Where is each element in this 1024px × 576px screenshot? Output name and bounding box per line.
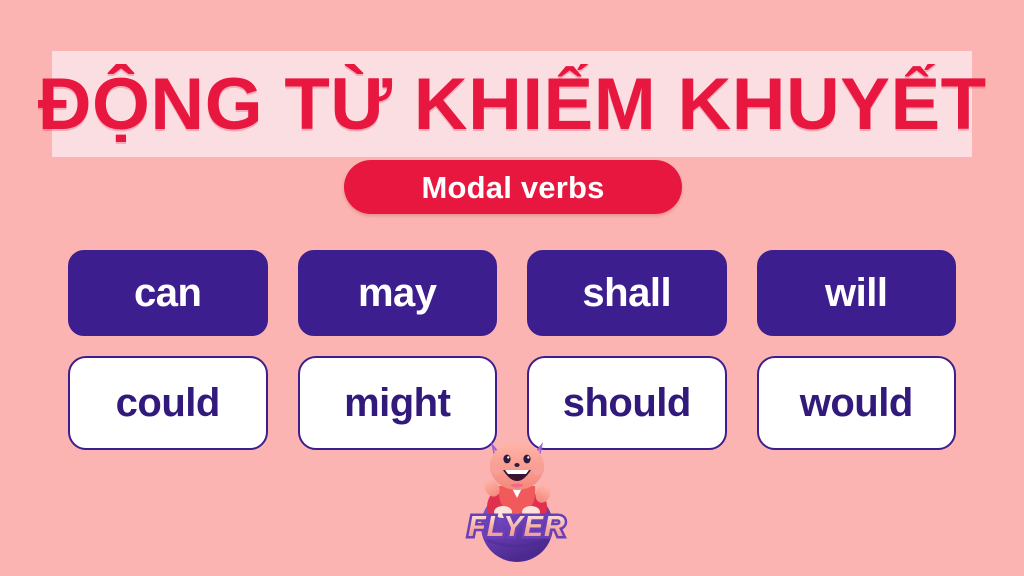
- modal-verb-card-shall[interactable]: shall: [527, 250, 727, 336]
- modal-verb-label: can: [134, 273, 201, 313]
- flyer-wordmark-text: FLYER: [468, 511, 566, 543]
- modal-verb-card-may[interactable]: may: [298, 250, 498, 336]
- fox-mascot-icon: [481, 442, 553, 518]
- modal-verb-label: will: [825, 273, 887, 313]
- modal-verb-card-could[interactable]: could: [68, 356, 268, 450]
- modal-verb-label: could: [116, 383, 220, 423]
- title-band: ĐỘNG TỪ KHIẾM KHUYẾT: [52, 51, 972, 157]
- modal-verb-grid: can may shall will could might should: [68, 250, 956, 450]
- flyer-logo: FLYER: [447, 428, 587, 568]
- subtitle-pill: Modal verbs: [344, 160, 682, 214]
- modal-verb-card-would[interactable]: would: [757, 356, 957, 450]
- modal-verb-label: would: [800, 383, 913, 423]
- modal-verb-card-can[interactable]: can: [68, 250, 268, 336]
- poster-canvas: ĐỘNG TỪ KHIẾM KHUYẾT Modal verbs can may…: [0, 0, 1024, 576]
- subtitle-label: Modal verbs: [421, 172, 604, 203]
- modal-verb-label: might: [344, 383, 450, 423]
- flyer-wordmark: FLYER: [468, 511, 566, 543]
- modal-verb-label: should: [563, 383, 691, 423]
- page-title: ĐỘNG TỪ KHIẾM KHUYẾT: [38, 68, 987, 141]
- modal-verb-label: may: [358, 273, 437, 313]
- modal-verb-card-will[interactable]: will: [757, 250, 957, 336]
- modal-verb-row-primary: can may shall will: [68, 250, 956, 336]
- modal-verb-label: shall: [582, 273, 671, 313]
